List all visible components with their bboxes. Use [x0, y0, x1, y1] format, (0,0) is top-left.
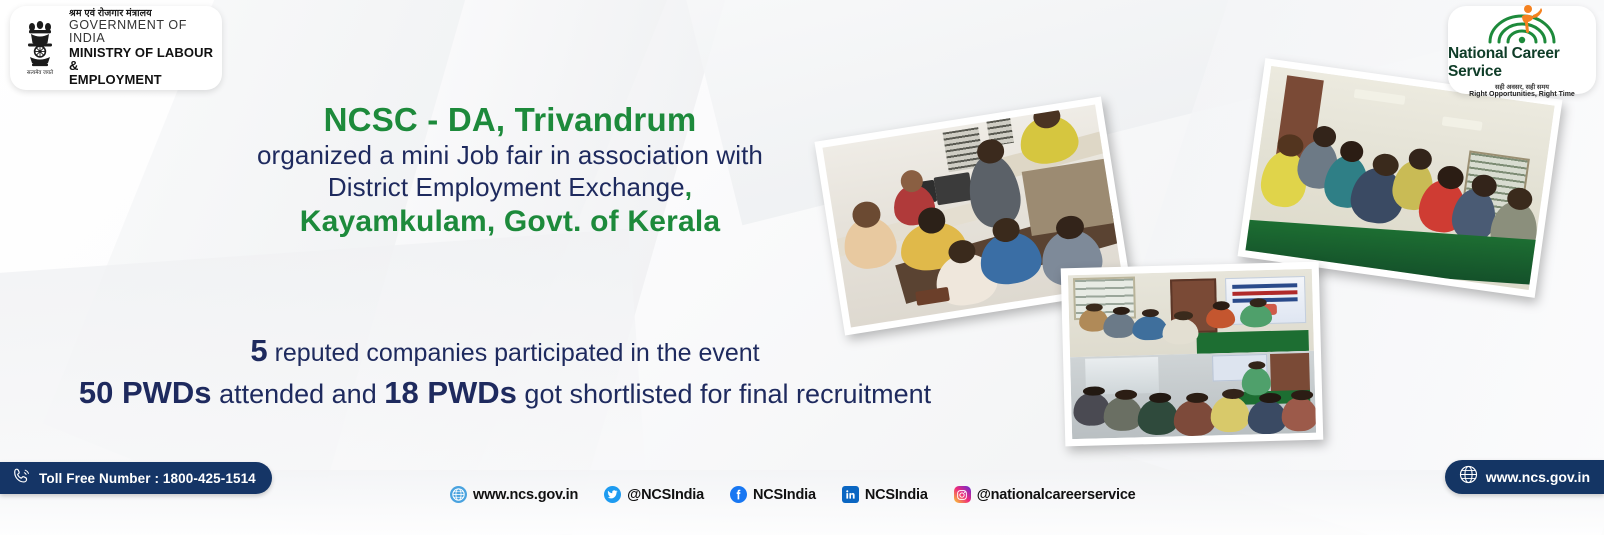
- stats-block: 5 reputed companies participated in the …: [0, 330, 1010, 414]
- headline-block: NCSC - DA, Trivandrum organized a mini J…: [130, 100, 890, 240]
- ncs-title: National Career Service: [1448, 45, 1596, 81]
- toll-free-label: Toll Free Number : 1800-425-1514: [39, 471, 256, 486]
- social-label-instagram: @nationalcareerservice: [977, 487, 1136, 503]
- shortlisted-text: got shortlisted for final recruitment: [524, 379, 931, 409]
- headline-line-3-comma: ,: [685, 172, 692, 202]
- social-link-instagram[interactable]: @nationalcareerservice: [954, 486, 1136, 503]
- social-links-row: www.ncs.gov.in @NCSIndia NCSIndia: [450, 486, 1136, 503]
- government-logo-text: श्रम एवं रोजगार मंत्रालय GOVERNMENT OF I…: [69, 9, 214, 87]
- globe-icon: [450, 486, 467, 503]
- ministry-line-2: EMPLOYMENT: [69, 73, 214, 87]
- social-link-facebook[interactable]: NCSIndia: [730, 486, 816, 503]
- government-of-india-label: GOVERNMENT OF INDIA: [69, 19, 214, 46]
- headline-line-1: NCSC - DA, Trivandrum: [130, 100, 890, 140]
- social-label-website: www.ncs.gov.in: [473, 487, 578, 503]
- government-of-india-logo: सत्यमेव जयते श्रम एवं रोजगार मंत्रालय GO…: [10, 6, 222, 90]
- social-link-website[interactable]: www.ncs.gov.in: [450, 486, 578, 503]
- ncs-ripple-figure-icon: [1476, 2, 1568, 44]
- headline-line-4: Kayamkulam, Govt. of Kerala: [130, 204, 890, 241]
- social-label-twitter: @NCSIndia: [627, 487, 704, 503]
- pwds-attended-count: 50 PWDs: [79, 375, 212, 410]
- headline-line-2: organized a mini Job fair in association…: [130, 140, 890, 172]
- social-link-twitter[interactable]: @NCSIndia: [604, 486, 704, 503]
- instagram-icon: [954, 486, 971, 503]
- phone-ring-icon: [12, 466, 32, 491]
- linkedin-icon: [842, 486, 859, 503]
- website-badge-label: www.ncs.gov.in: [1486, 469, 1590, 485]
- globe-icon: [1459, 465, 1478, 489]
- twitter-icon: [604, 486, 621, 503]
- ncs-tagline-hindi: सही अवसर, सही समय: [1495, 82, 1549, 91]
- photo-stage-and-crowd: [1061, 262, 1324, 447]
- facebook-icon: [730, 486, 747, 503]
- headline-line-3: District Employment Exchange,: [130, 172, 890, 204]
- background-swoosh: [325, 0, 786, 535]
- website-badge[interactable]: www.ncs.gov.in: [1445, 460, 1604, 494]
- social-link-linkedin[interactable]: NCSIndia: [842, 486, 928, 503]
- social-label-linkedin: NCSIndia: [865, 487, 928, 503]
- pwds-shortlisted-count: 18 PWDs: [384, 375, 517, 410]
- ncs-tagline-english: Right Opportunities, Right Time: [1469, 91, 1575, 98]
- ashoka-emblem-icon: सत्यमेव जयते: [18, 17, 62, 79]
- stats-pwds-line: 50 PWDs attended and 18 PWDs got shortli…: [0, 372, 1010, 414]
- ministry-line-1: MINISTRY OF LABOUR &: [69, 46, 214, 74]
- social-label-facebook: NCSIndia: [753, 487, 816, 503]
- national-career-service-logo: National Career Service सही अवसर, सही सम…: [1448, 6, 1596, 94]
- toll-free-badge[interactable]: Toll Free Number : 1800-425-1514: [0, 462, 272, 494]
- headline-line-3-text: District Employment Exchange: [328, 172, 685, 202]
- attended-text: attended and: [219, 379, 377, 409]
- svg-text:सत्यमेव जयते: सत्यमेव जयते: [27, 69, 54, 76]
- companies-count: 5: [250, 333, 267, 368]
- stats-companies-line: 5 reputed companies participated in the …: [0, 330, 1010, 372]
- ncs-event-banner: सत्यमेव जयते श्रम एवं रोजगार मंत्रालय GO…: [0, 0, 1604, 535]
- companies-text: reputed companies participated in the ev…: [275, 339, 760, 367]
